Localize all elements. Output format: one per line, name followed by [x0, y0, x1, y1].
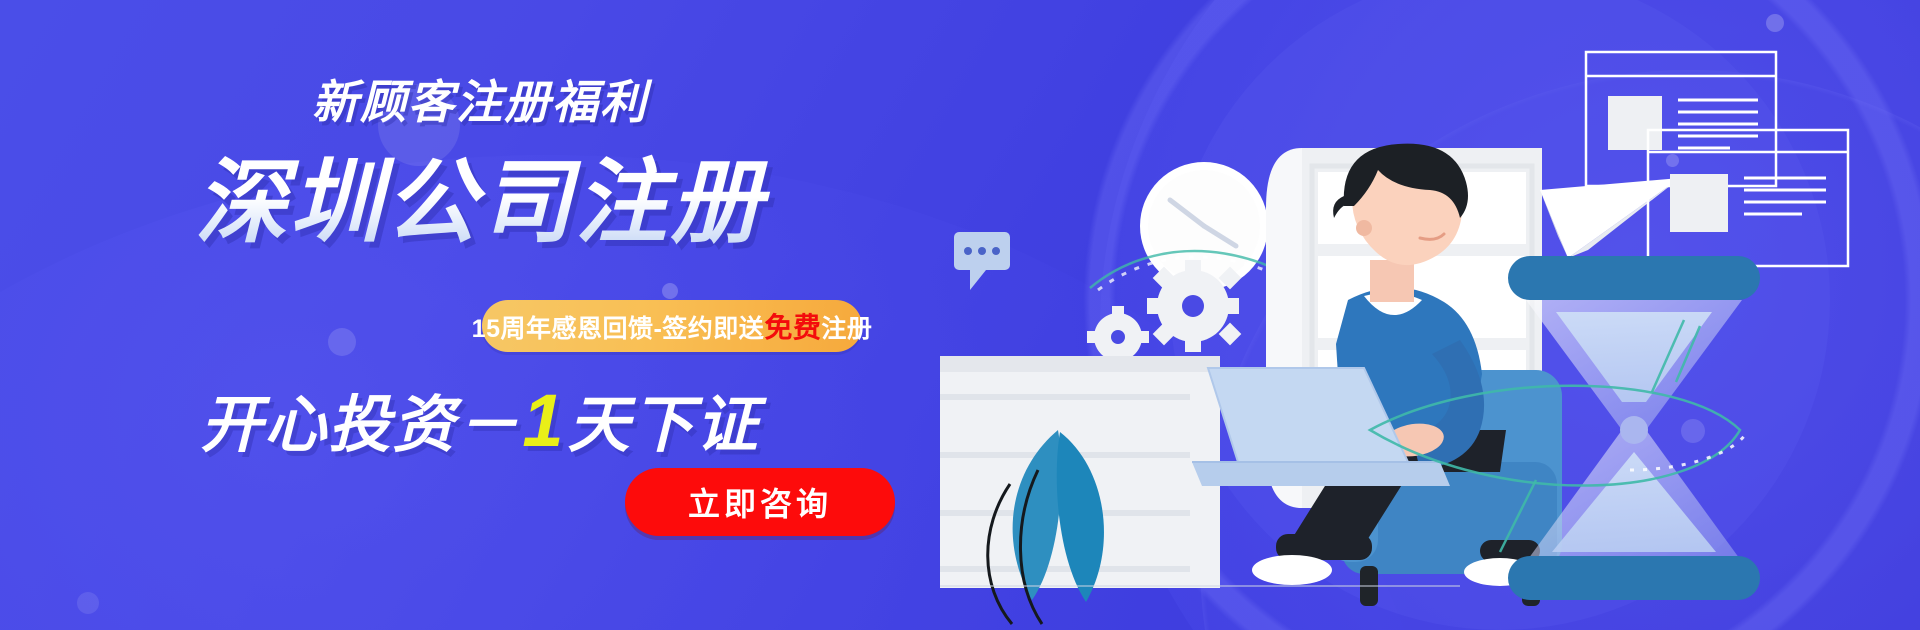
tagline-suffix: 天下证: [568, 391, 760, 460]
chat-bubble-icon: [954, 232, 1010, 290]
promo-pill-highlight: 免费: [764, 312, 821, 343]
banner-copy: 新顾客注册福利 深圳公司注册 15周年感恩回馈-签约即送免费注册 开心投资－1天…: [0, 0, 960, 630]
gear-icon: [1147, 260, 1241, 352]
promo-pill-prefix: 15周年感恩回馈-签约即送: [472, 315, 765, 343]
banner-tagline: 开心投资－1天下证: [0, 374, 960, 464]
consult-now-label: 立即咨询: [688, 479, 832, 525]
banner-headline: 深圳公司注册: [0, 128, 960, 261]
consult-now-button[interactable]: 立即咨询: [625, 468, 895, 536]
hero-illustration: [940, 0, 1920, 630]
promo-banner: 新顾客注册福利 深圳公司注册 15周年感恩回馈-签约即送免费注册 开心投资－1天…: [0, 0, 1920, 630]
promo-pill: 15周年感恩回馈-签约即送免费注册: [482, 300, 862, 352]
promo-pill-text: 15周年感恩回馈-签约即送免费注册: [472, 306, 873, 346]
tagline-number: 1: [520, 379, 567, 462]
promo-pill-suffix: 注册: [821, 315, 872, 343]
tagline-prefix: 开心投资－: [200, 391, 520, 460]
banner-eyebrow: 新顾客注册福利: [0, 66, 960, 132]
clock-icon: [1140, 162, 1268, 290]
